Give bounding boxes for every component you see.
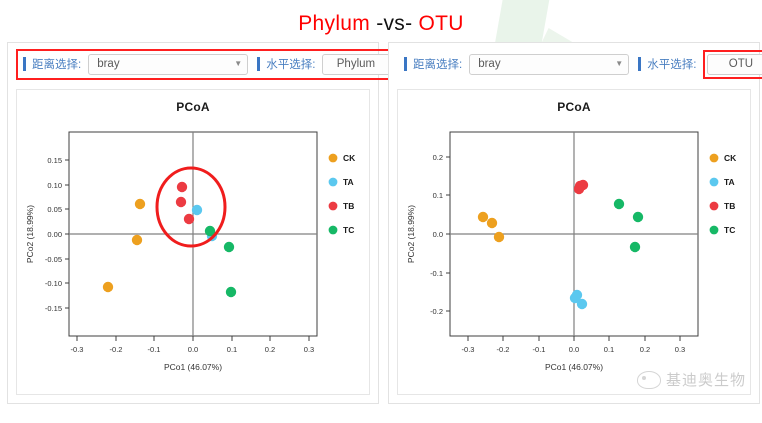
legend-label-tc: TC <box>724 225 735 235</box>
y-tick-1: 0.1 <box>433 191 443 200</box>
point-ta <box>577 299 587 309</box>
distance-select-left[interactable]: bray ▼ <box>88 54 248 75</box>
control-highlight-box-left: 距离选择: bray ▼ 水平选择: Phylum ▼ <box>16 49 407 80</box>
legend-swatch-tb <box>329 202 338 211</box>
y-tick-3: -0.1 <box>430 269 443 278</box>
control-box-right: 距离选择: bray ▼ 水平选择: OTU ▼ <box>397 45 762 84</box>
chart-card-right: PCoA 0.2 0. <box>397 89 751 395</box>
x-axis-ticks-right: -0.3 -0.2 -0.1 0.0 0.1 0.2 0.3 <box>462 336 686 354</box>
legend-swatch-tc <box>710 226 719 235</box>
distance-field-right: 距离选择: bray ▼ <box>404 54 629 75</box>
scatter-plot-right: 0.2 0.1 0.0 -0.1 -0.2 <box>398 114 752 382</box>
legend-swatch-ta <box>710 178 719 187</box>
legend-label-tc: TC <box>343 225 354 235</box>
field-marker-icon <box>257 57 260 71</box>
level-select-highlight-right: OTU ▼ <box>703 50 762 79</box>
x-axis-label-right: PCo1 (46.07%) <box>545 362 603 372</box>
point-tc <box>633 212 643 222</box>
page-root: Phylum -vs- OTU 距离选择: bray ▼ <box>0 0 762 423</box>
x-axis-label-left: PCo1 (46.07%) <box>164 362 222 372</box>
distance-field-left: 距离选择: bray ▼ <box>23 54 248 75</box>
point-tc <box>630 242 640 252</box>
scatter-plot-left: 0.15 0.10 0.05 0.00 -0.05 -0.10 -0.15 <box>17 114 371 382</box>
point-tc <box>224 242 234 252</box>
x-tick-6: 0.3 <box>304 345 314 354</box>
y-tick-1: 0.10 <box>47 181 62 190</box>
x-tick-2: -0.1 <box>148 345 161 354</box>
field-marker-icon <box>638 57 641 71</box>
x-tick-4: 0.1 <box>227 345 237 354</box>
x-tick-0: -0.3 <box>71 345 84 354</box>
legend-label-tb: TB <box>724 201 735 211</box>
point-ta <box>192 205 202 215</box>
level-field-right: 水平选择: OTU ▼ <box>638 50 762 79</box>
page-title-left: Phylum <box>298 12 370 35</box>
y-axis-label-left: PCo2 (18.99%) <box>25 205 35 263</box>
panel-container: 距离选择: bray ▼ 水平选择: Phylum ▼ <box>0 34 762 404</box>
x-tick-4: 0.1 <box>604 345 614 354</box>
y-tick-4: -0.05 <box>45 255 62 264</box>
x-tick-5: 0.2 <box>640 345 650 354</box>
y-tick-3: 0.00 <box>47 230 62 239</box>
distance-label-left: 距离选择: <box>32 56 81 72</box>
point-tc <box>614 199 624 209</box>
point-tb <box>574 184 584 194</box>
y-tick-4: -0.2 <box>430 307 443 316</box>
legend-label-ta: TA <box>724 177 735 187</box>
level-label-right: 水平选择: <box>647 56 696 72</box>
y-tick-5: -0.10 <box>45 279 62 288</box>
page-title-right: OTU <box>419 12 464 35</box>
chart-title-left: PCoA <box>17 90 369 114</box>
y-axis-label-right: PCo2 (18.99%) <box>406 205 416 263</box>
legend-swatch-ck <box>710 154 719 163</box>
y-tick-2: 0.0 <box>433 230 443 239</box>
plot-area-right: 0.2 0.1 0.0 -0.1 -0.2 <box>398 114 750 384</box>
y-tick-6: -0.15 <box>45 304 62 313</box>
legend-swatch-ta <box>329 178 338 187</box>
point-tc <box>226 287 236 297</box>
distance-select-value-right: bray <box>478 58 500 70</box>
legend-swatch-tc <box>329 226 338 235</box>
x-tick-0: -0.3 <box>462 345 475 354</box>
legend-label-ta: TA <box>343 177 354 187</box>
control-bar-right: 距离选择: bray ▼ 水平选择: OTU ▼ <box>389 43 759 85</box>
chart-title-right: PCoA <box>398 90 750 114</box>
x-tick-2: -0.1 <box>533 345 546 354</box>
x-tick-3: 0.0 <box>569 345 579 354</box>
y-tick-2: 0.05 <box>47 205 62 214</box>
control-bar-left: 距离选择: bray ▼ 水平选择: Phylum ▼ <box>8 43 378 85</box>
chevron-down-icon: ▼ <box>615 60 623 68</box>
point-tb <box>177 182 187 192</box>
legend-left: CK TA TB TC <box>329 153 357 235</box>
x-tick-1: -0.2 <box>497 345 510 354</box>
panel-otu: 距离选择: bray ▼ 水平选择: OTU ▼ <box>388 42 760 404</box>
point-tb <box>176 197 186 207</box>
distance-select-value-left: bray <box>97 58 119 70</box>
page-title-vs: -vs- <box>376 12 412 35</box>
point-ck <box>132 235 142 245</box>
legend-swatch-ck <box>329 154 338 163</box>
field-marker-icon <box>23 57 26 71</box>
legend-label-ck: CK <box>724 153 737 163</box>
level-select-value-right: OTU <box>716 58 762 70</box>
x-axis-ticks-left: -0.3 -0.2 -0.1 0.0 0.1 0.2 0.3 <box>71 336 315 354</box>
page-title: Phylum -vs- OTU <box>0 0 762 34</box>
y-axis-ticks-right: 0.2 0.1 0.0 -0.1 -0.2 <box>430 153 450 316</box>
x-tick-5: 0.2 <box>265 345 275 354</box>
field-marker-icon <box>404 57 407 71</box>
point-ck <box>494 232 504 242</box>
plot-area-left: 0.15 0.10 0.05 0.00 -0.05 -0.10 -0.15 <box>17 114 369 384</box>
level-label-left: 水平选择: <box>266 56 315 72</box>
legend-right: CK TA TB TC <box>710 153 738 235</box>
point-tb <box>184 214 194 224</box>
x-tick-6: 0.3 <box>675 345 685 354</box>
level-field-left: 水平选择: Phylum ▼ <box>257 54 400 75</box>
legend-swatch-tb <box>710 202 719 211</box>
point-ck <box>478 212 488 222</box>
distance-label-right: 距离选择: <box>413 56 462 72</box>
chart-card-left: PCoA <box>16 89 370 395</box>
x-tick-3: 0.0 <box>188 345 198 354</box>
panel-phylum: 距离选择: bray ▼ 水平选择: Phylum ▼ <box>7 42 379 404</box>
x-tick-1: -0.2 <box>110 345 123 354</box>
point-ck <box>103 282 113 292</box>
legend-label-ck: CK <box>343 153 356 163</box>
y-axis-ticks-left: 0.15 0.10 0.05 0.00 -0.05 -0.10 -0.15 <box>45 156 69 313</box>
point-ck <box>135 199 145 209</box>
point-ck <box>487 218 497 228</box>
y-tick-0: 0.2 <box>433 153 443 162</box>
distance-select-right[interactable]: bray ▼ <box>469 54 629 75</box>
legend-label-tb: TB <box>343 201 354 211</box>
level-select-value-left: Phylum <box>331 58 380 70</box>
chevron-down-icon: ▼ <box>234 60 242 68</box>
y-tick-0: 0.15 <box>47 156 62 165</box>
level-select-right[interactable]: OTU ▼ <box>707 54 762 75</box>
